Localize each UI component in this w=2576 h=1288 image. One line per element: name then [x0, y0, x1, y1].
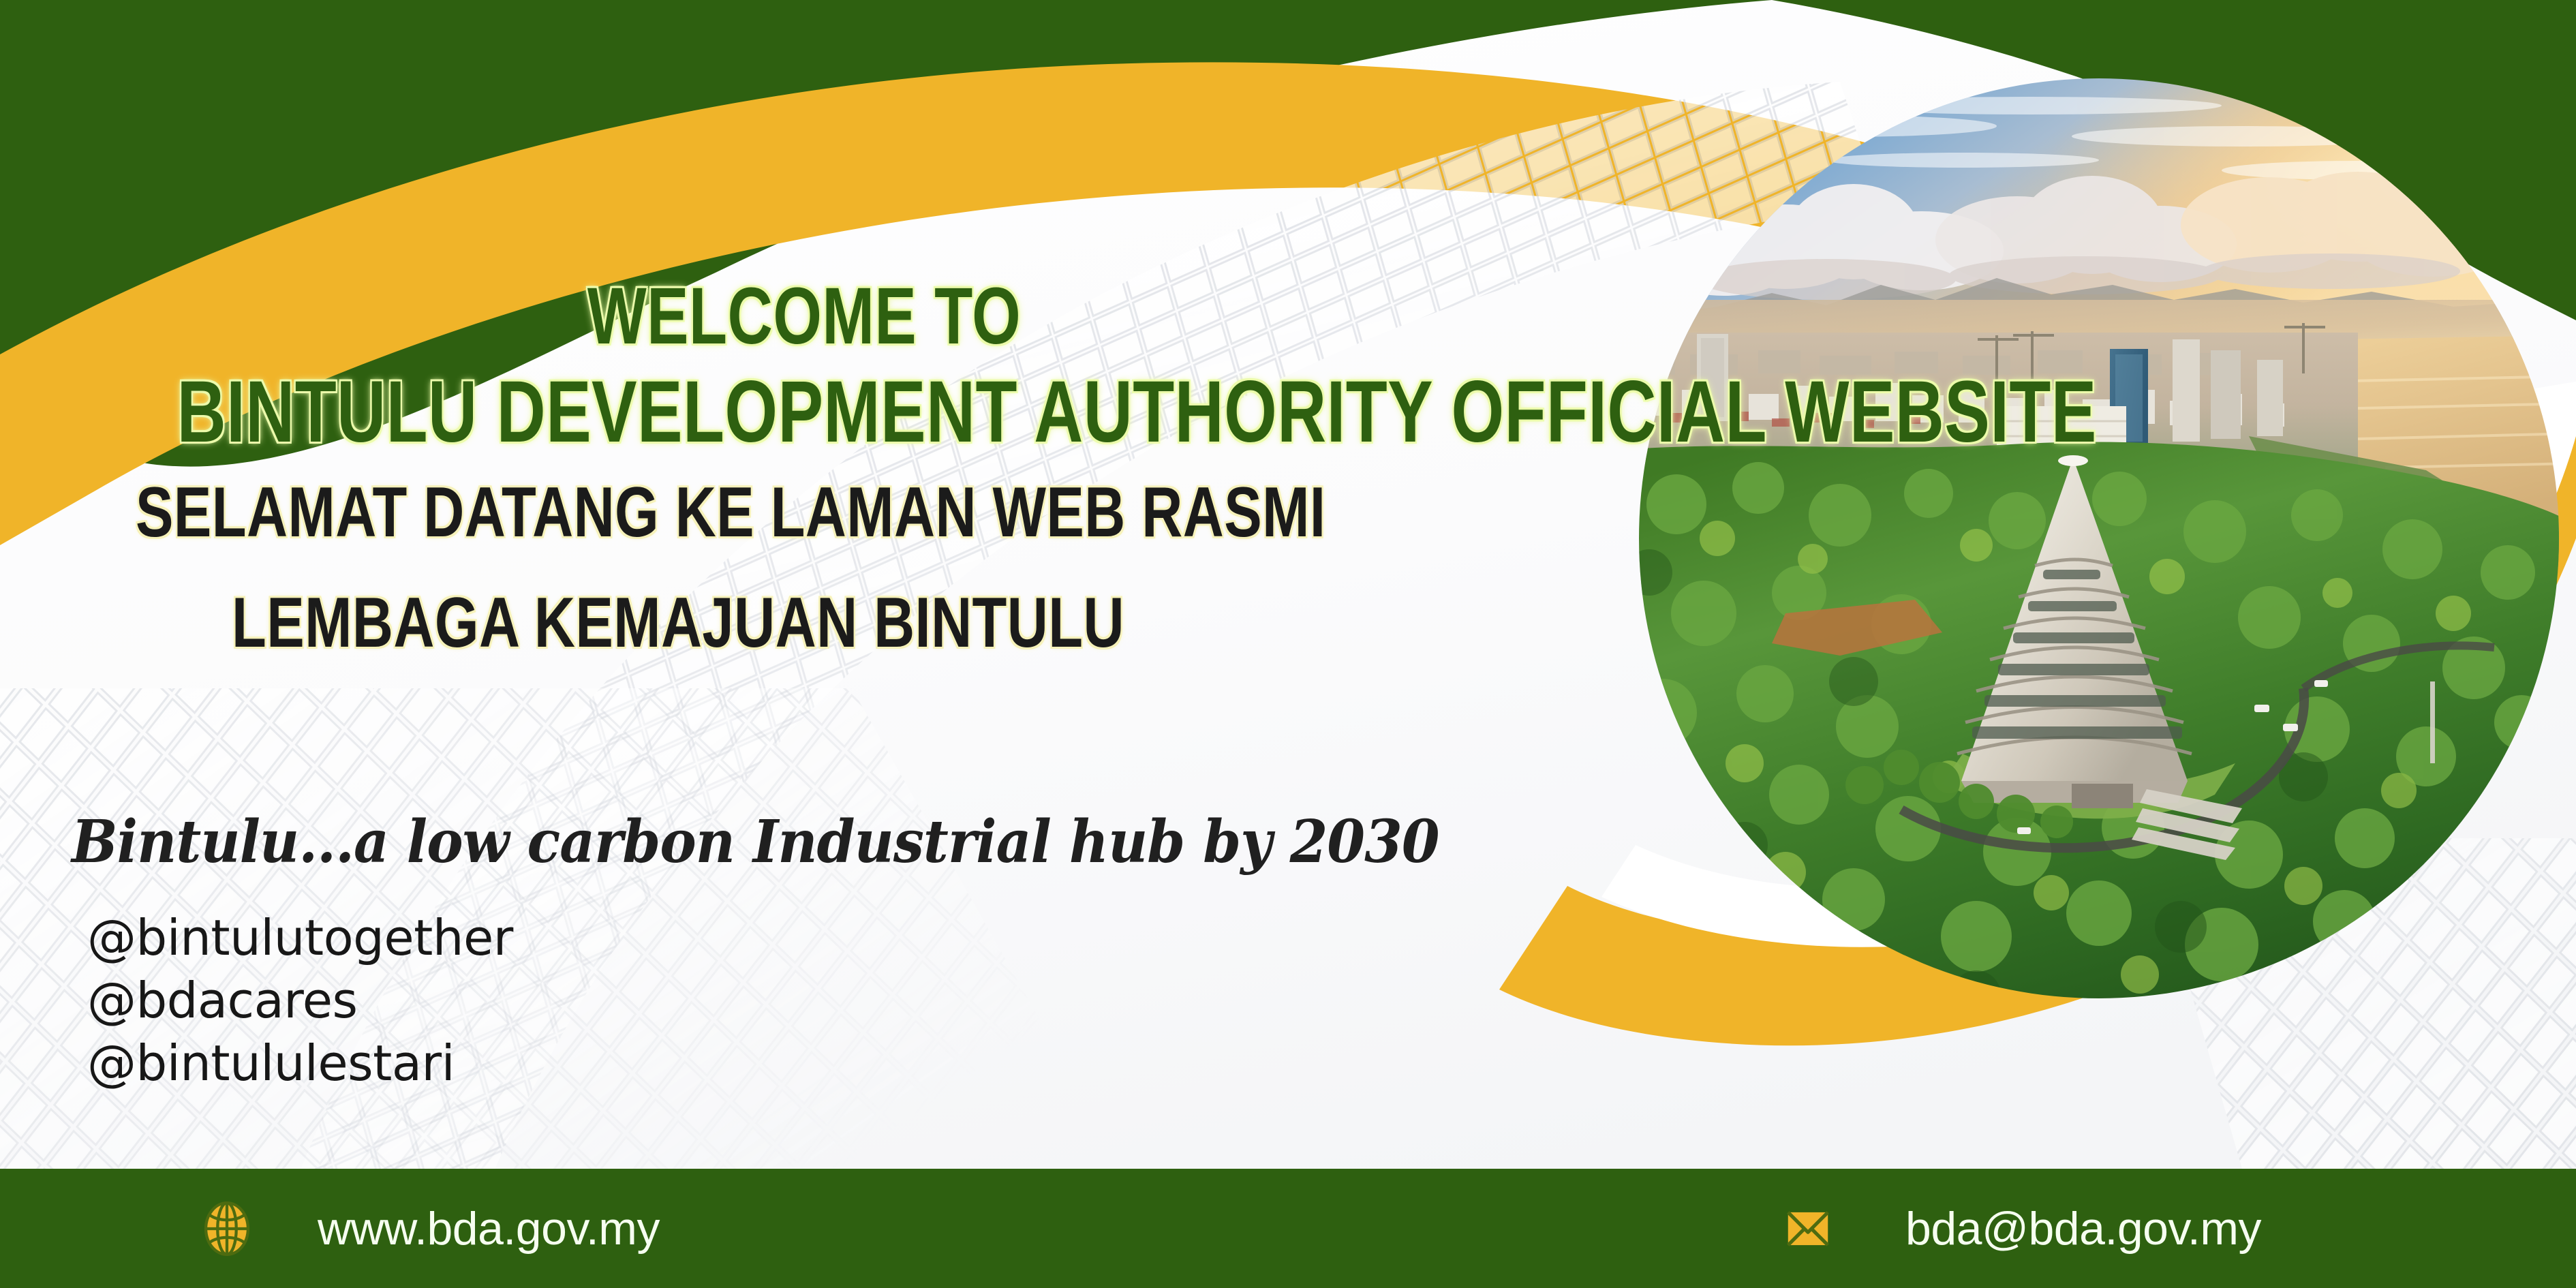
- footer-contact-bar: www.bda.gov.my bda@bda.gov.my: [0, 1169, 2576, 1288]
- email-address[interactable]: bda@bda.gov.my: [1905, 1202, 2261, 1255]
- bda-welcome-banner: WELCOME TO BINTULU DEVELOPMENT AUTHORITY…: [0, 0, 2576, 1288]
- photo-light-pole: [2430, 681, 2435, 763]
- website-url[interactable]: www.bda.gov.my: [318, 1202, 660, 1255]
- globe-icon: [198, 1199, 256, 1258]
- website-contact[interactable]: www.bda.gov.my: [198, 1199, 660, 1258]
- photo-cumulus-clouds: [1656, 169, 2542, 300]
- email-contact[interactable]: bda@bda.gov.my: [1779, 1199, 2261, 1258]
- envelope-icon: [1779, 1199, 1837, 1258]
- bintulu-aerial-photo: [0, 0, 2576, 1288]
